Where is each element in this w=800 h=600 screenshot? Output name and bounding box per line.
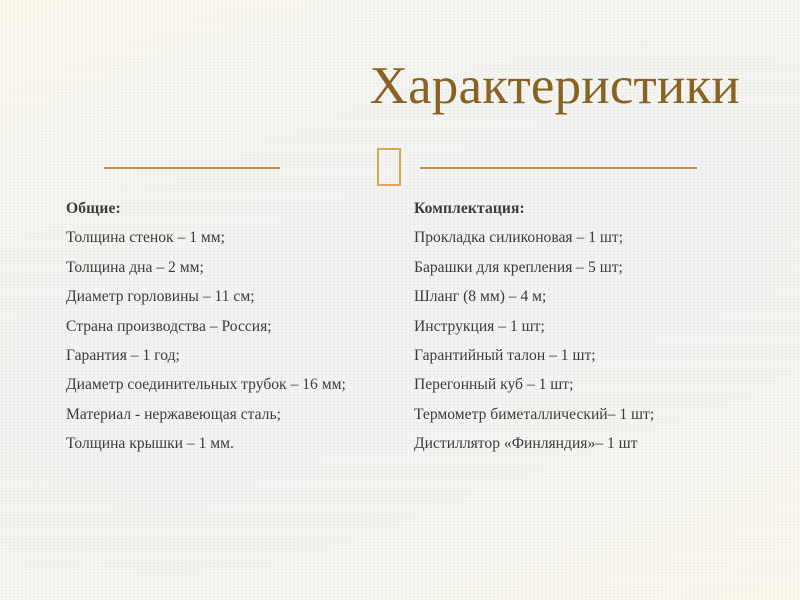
- list-item: Толщина стенок – 1 мм;: [66, 229, 396, 247]
- list-item: Прокладка силиконовая – 1 шт;: [414, 229, 749, 247]
- list-item: Толщина крышки – 1 мм.: [66, 435, 396, 453]
- divider-line-right: [420, 167, 697, 169]
- specifications-heading: Общие:: [66, 200, 396, 218]
- divider-line-left: [104, 167, 280, 169]
- page-title: Характеристики: [0, 58, 740, 114]
- list-item: Гарантийный талон – 1 шт;: [414, 347, 749, 365]
- slide-content: Общие: Толщина стенок – 1 мм; Толщина дн…: [0, 200, 800, 500]
- list-item: Диаметр горловины – 11 см;: [66, 288, 396, 306]
- list-item: Страна производства – Россия;: [66, 318, 396, 336]
- list-item: Материал - нержавеющая сталь;: [66, 406, 396, 424]
- package-contents-heading: Комплектация:: [414, 200, 749, 218]
- list-item: Гарантия – 1 год;: [66, 347, 396, 365]
- specifications-column: Общие: Толщина стенок – 1 мм; Толщина дн…: [66, 200, 396, 454]
- presentation-slide: Характеристики Общие: Толщина стенок – 1…: [0, 0, 800, 600]
- list-item: Толщина дна – 2 мм;: [66, 259, 396, 277]
- list-item: Дистиллятор «Финляндия»– 1 шт: [414, 435, 749, 453]
- list-item: Перегонный куб – 1 шт;: [414, 376, 749, 394]
- title-divider: [0, 148, 800, 188]
- list-item: Шланг (8 мм) – 4 м;: [414, 288, 749, 306]
- rectangle-outline-icon: [377, 148, 401, 186]
- list-item: Термометр биметаллический– 1 шт;: [414, 406, 749, 424]
- list-item: Диаметр соединительных трубок – 16 мм;: [66, 376, 396, 394]
- list-item: Инструкция – 1 шт;: [414, 318, 749, 336]
- list-item: Барашки для крепления – 5 шт;: [414, 259, 749, 277]
- package-contents-column: Комплектация: Прокладка силиконовая – 1 …: [414, 200, 749, 454]
